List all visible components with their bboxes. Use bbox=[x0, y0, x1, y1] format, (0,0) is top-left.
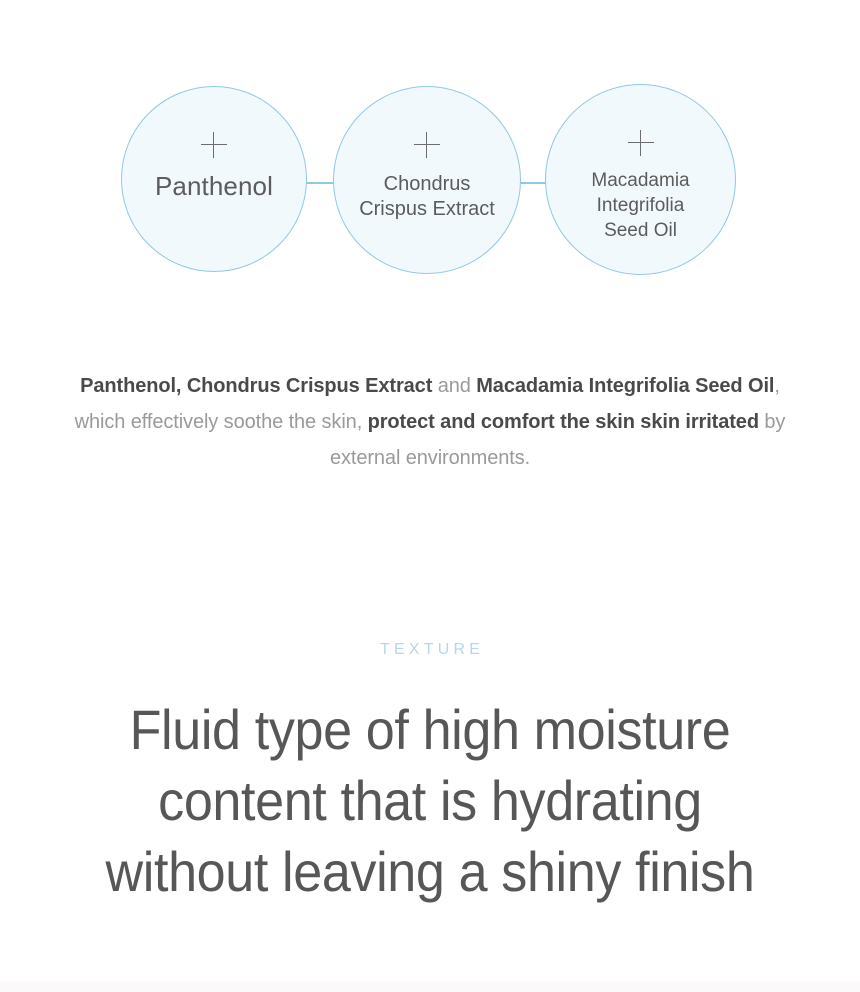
ingredient-label: Chondrus Crispus Extract bbox=[359, 172, 495, 222]
ingredient-label: Panthenol bbox=[155, 171, 273, 201]
bottom-divider-band bbox=[0, 981, 860, 992]
plus-icon bbox=[201, 132, 227, 158]
description-segment-bold: Macadamia Integrifolia Seed Oil bbox=[476, 375, 774, 397]
ingredient-circles-group: Panthenol Chondrus Crispus Extract Macad… bbox=[0, 78, 860, 278]
description-segment-bold: protect and comfort the skin skin irrita… bbox=[368, 411, 759, 433]
ingredient-description: Panthenol, Chondrus Crispus Extract and … bbox=[70, 368, 790, 476]
ingredient-label-line: Macadamia bbox=[591, 168, 689, 193]
ingredient-circle-chondrus-crispus-extract: Chondrus Crispus Extract bbox=[333, 86, 521, 274]
ingredient-label-line: Panthenol bbox=[155, 171, 273, 201]
description-segment-bold: Panthenol, Chondrus Crispus Extract bbox=[80, 375, 432, 397]
plus-icon bbox=[414, 132, 440, 158]
texture-headline-line: Fluid type of high moisture bbox=[30, 694, 830, 765]
texture-section-eyebrow: TEXTURE bbox=[0, 641, 860, 659]
ingredient-label-line: Integrifolia bbox=[591, 193, 689, 218]
circle-connector-2-3 bbox=[518, 182, 547, 184]
product-detail-page: Panthenol Chondrus Crispus Extract Macad… bbox=[0, 0, 860, 992]
ingredient-label: Macadamia Integrifolia Seed Oil bbox=[591, 168, 689, 243]
ingredient-label-line: Crispus Extract bbox=[359, 197, 495, 222]
circle-connector-1-2 bbox=[305, 182, 335, 184]
ingredient-label-line: Seed Oil bbox=[591, 218, 689, 243]
texture-headline-line: without leaving a shiny finish bbox=[30, 836, 830, 907]
ingredient-circle-macadamia-integrifolia-seed-oil: Macadamia Integrifolia Seed Oil bbox=[545, 84, 736, 275]
ingredient-label-line: Chondrus bbox=[359, 172, 495, 197]
texture-headline: Fluid type of high moisture content that… bbox=[30, 694, 830, 907]
ingredient-circle-panthenol: Panthenol bbox=[121, 86, 307, 272]
plus-icon bbox=[628, 130, 654, 156]
texture-headline-line: content that is hydrating bbox=[30, 765, 830, 836]
description-segment: and bbox=[432, 375, 476, 397]
